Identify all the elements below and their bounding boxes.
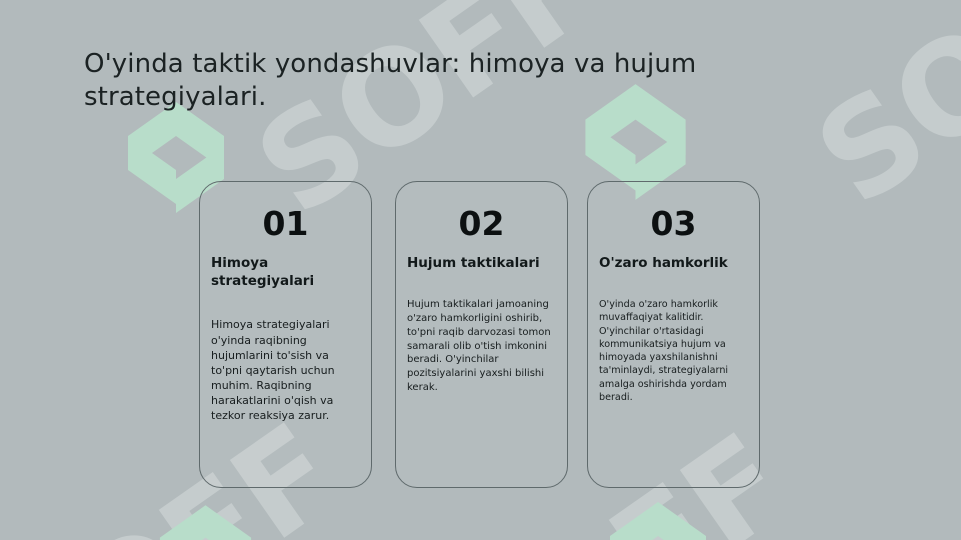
card-01[interactable]: 01 Himoya strategiyalari Himoya strategi…	[199, 181, 372, 488]
card-heading: Hujum taktikalari	[407, 254, 556, 272]
watermark-text-top-right: SOFF	[790, 0, 961, 235]
card-body: Hujum taktikalari jamoaning o'zaro hamko…	[407, 298, 556, 395]
card-03[interactable]: 03 O'zaro hamkorlik O'yinda o'zaro hamko…	[587, 181, 760, 488]
brand-logo-icon-bottom-left	[158, 503, 253, 540]
page-title: O'yinda taktik yondashuvlar: himoya va h…	[84, 48, 784, 115]
card-heading: O'zaro hamkorlik	[599, 254, 748, 272]
card-heading: Himoya strategiyalari	[211, 254, 360, 290]
card-number: 02	[407, 207, 556, 240]
card-number: 03	[599, 207, 748, 240]
card-number: 01	[211, 207, 360, 240]
watermark-text-bottom-right: SOFF	[880, 396, 961, 540]
card-body: Himoya strategiyalari o'yinda raqibning …	[211, 317, 360, 423]
card-02[interactable]: 02 Hujum taktikalari Hujum taktikalari j…	[395, 181, 568, 488]
card-body: O'yinda o'zaro hamkorlik muvaffaqiyat ka…	[599, 298, 748, 404]
slide-canvas: SOFF SOFF SOFF SOFF SOFF	[0, 0, 961, 540]
brand-logo-icon-bottom-right	[608, 500, 708, 540]
cards-container: 01 Himoya strategiyalari Himoya strategi…	[199, 181, 761, 489]
